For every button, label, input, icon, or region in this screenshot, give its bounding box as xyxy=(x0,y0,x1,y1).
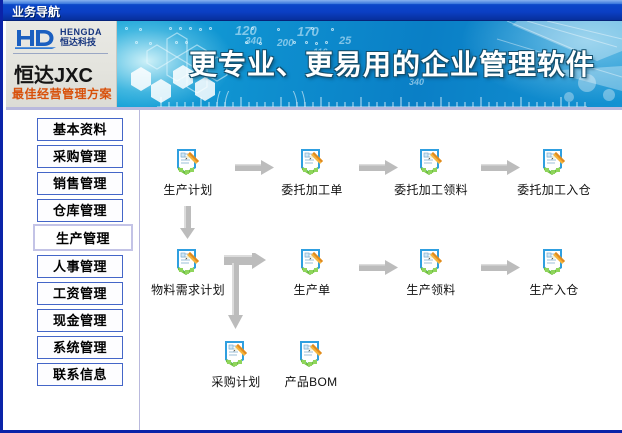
app-banner: HENGDA 恒达科技 恒达JXC 最佳经营管理方案 xyxy=(6,21,622,107)
banner-headline: 更专业、更易用的企业管理软件 xyxy=(189,43,595,83)
flow-node-label: 产品BOM xyxy=(263,373,359,390)
flow-node-outsourcing-order[interactable]: 委托加工单 xyxy=(264,146,360,198)
hd-logo-icon xyxy=(14,27,60,49)
sidebar-item-hr[interactable]: 人事管理 xyxy=(37,255,123,278)
window-title: 业务导航 xyxy=(12,3,60,20)
flow-node-label: 委托加工领料 xyxy=(383,181,479,198)
sidebar-item-sales[interactable]: 销售管理 xyxy=(37,172,123,195)
main-content: 基本资料 采购管理 销售管理 仓库管理 生产管理 人事管理 工资管理 现金管理 … xyxy=(6,110,622,430)
connector-arrow-tee-right-down xyxy=(224,253,266,331)
window-titlebar: 业务导航 xyxy=(3,0,622,21)
document-pencil-icon xyxy=(172,246,204,278)
document-pencil-icon xyxy=(172,146,204,178)
document-pencil-icon xyxy=(295,338,327,370)
sidebar-item-contact[interactable]: 联系信息 xyxy=(37,363,123,386)
document-pencil-icon xyxy=(538,146,570,178)
flow-node-label: 生产计划 xyxy=(140,181,236,198)
brand-logo-panel: HENGDA 恒达科技 恒达JXC 最佳经营管理方案 xyxy=(6,21,117,107)
ghost-number-1: 170 xyxy=(297,24,319,39)
flow-node-outsourcing-material-issue[interactable]: 委托加工领料 xyxy=(383,146,479,198)
brand-slogan: 最佳经营管理方案 xyxy=(12,85,112,102)
sidebar-item-purchasing[interactable]: 采购管理 xyxy=(37,145,123,168)
sidebar-item-cash[interactable]: 现金管理 xyxy=(37,309,123,332)
flow-node-label: 委托加工单 xyxy=(264,181,360,198)
production-flow-diagram: 生产计划 委托加工单 xyxy=(140,110,622,430)
brand-name-cn: 恒达科技 xyxy=(60,37,96,47)
sidebar-item-warehouse[interactable]: 仓库管理 xyxy=(37,199,123,222)
flow-node-mrp[interactable]: 物料需求计划 xyxy=(140,246,236,298)
document-pencil-icon xyxy=(296,246,328,278)
sidebar-item-system[interactable]: 系统管理 xyxy=(37,336,123,359)
flow-node-label: 生产单 xyxy=(264,281,360,298)
brand-name-en: HENGDA xyxy=(60,27,102,37)
flow-node-product-bom[interactable]: 产品BOM xyxy=(263,338,359,390)
product-name: 恒达JXC xyxy=(14,59,93,88)
sidebar-item-payroll[interactable]: 工资管理 xyxy=(37,282,123,305)
ruler-pattern-icon xyxy=(157,91,587,107)
document-pencil-icon xyxy=(220,338,252,370)
logo-divider xyxy=(13,53,108,54)
navigation-sidebar: 基本资料 采购管理 销售管理 仓库管理 生产管理 人事管理 工资管理 现金管理 … xyxy=(6,110,140,430)
flow-node-outsourcing-receipt[interactable]: 委托加工入仓 xyxy=(506,146,602,198)
flow-node-label: 生产入仓 xyxy=(506,281,602,298)
sidebar-item-production[interactable]: 生产管理 xyxy=(33,224,133,251)
flow-node-label: 物料需求计划 xyxy=(140,281,236,298)
flow-node-label: 生产领料 xyxy=(383,281,479,298)
connector-arrow-down-1 xyxy=(180,206,195,240)
document-pencil-icon xyxy=(296,146,328,178)
ghost-number-6: 50 xyxy=(179,77,189,87)
document-pencil-icon xyxy=(415,146,447,178)
business-navigation-window: 业务导航 HENGDA 恒达科技 恒达JXC 最佳经营管理方案 xyxy=(0,0,622,433)
document-pencil-icon xyxy=(415,246,447,278)
flow-node-label: 委托加工入仓 xyxy=(506,181,602,198)
flow-node-production-material-issue[interactable]: 生产领料 xyxy=(383,246,479,298)
banner-artwork: 120 170 340 200 116 25 50 340 更专业、更易用的企业… xyxy=(117,21,622,107)
flow-node-production-receipt[interactable]: 生产入仓 xyxy=(506,246,602,298)
document-pencil-icon xyxy=(538,246,570,278)
sidebar-item-basic-data[interactable]: 基本资料 xyxy=(37,118,123,141)
flow-node-production-plan[interactable]: 生产计划 xyxy=(140,146,236,198)
flow-node-production-order[interactable]: 生产单 xyxy=(264,246,360,298)
